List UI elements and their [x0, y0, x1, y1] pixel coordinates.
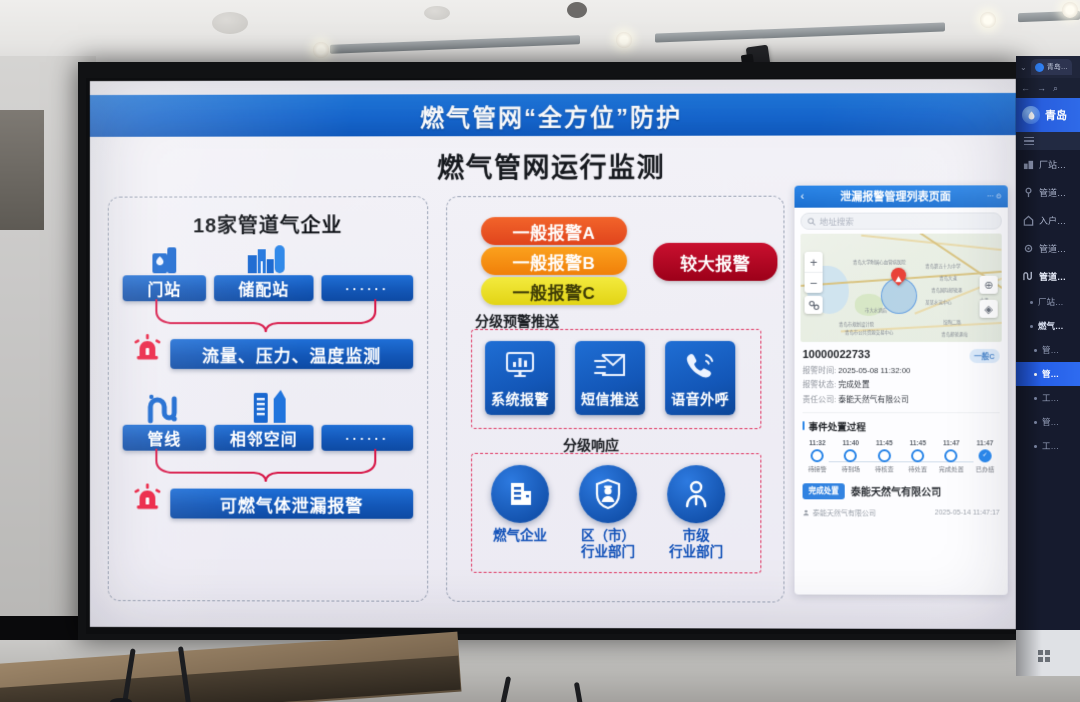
zoom-out-button[interactable]: −: [805, 272, 823, 293]
map-poi: 青岛大道: [939, 276, 957, 282]
chip-storage-station[interactable]: 储配站: [214, 275, 313, 301]
taskbar: [1016, 630, 1080, 676]
field-value: 2025-05-08 11:32:00: [838, 366, 910, 375]
search-icon[interactable]: ⌕: [1053, 83, 1058, 94]
building-icon: [491, 465, 549, 523]
alarm-level-label: 一般报警C: [513, 278, 596, 303]
sidebar-subitem-5[interactable]: 工…: [1016, 386, 1080, 410]
entry-company: 泰能天然气有限公司: [851, 483, 942, 498]
timeline-time: 11:40: [834, 440, 868, 447]
monitoring-result-label: 可燃气体泄漏报警: [220, 491, 363, 516]
response-role-label: 区（市） 行业部门: [569, 528, 647, 559]
field-value: 完成处置: [838, 380, 869, 389]
push-channel-label: 系统报警: [491, 389, 549, 409]
push-channel-sms[interactable]: 短信推送: [575, 341, 645, 415]
alarm-level-b[interactable]: 一般报警B: [481, 247, 627, 275]
field-key: 报警时间:: [803, 366, 837, 375]
sidebar-item-label: 管道…: [1039, 270, 1066, 283]
search-icon: [808, 217, 816, 225]
sidebar-subitem-2[interactable]: 燃气…: [1016, 314, 1080, 338]
timeline-dot: [811, 449, 824, 462]
entry-author: 泰能天然气有限公司: [803, 508, 935, 518]
push-channel-system[interactable]: 系统报警: [485, 341, 555, 415]
alarm-level-label: 一般报警B: [513, 248, 596, 273]
map-poi: 青岛第五十九中学: [925, 264, 960, 270]
brace-connector-2: [148, 449, 377, 483]
sidebar-item-plant[interactable]: 厂站…: [1016, 150, 1080, 178]
monitoring-result-label: 流量、压力、温度监测: [202, 342, 381, 367]
alarm-level-c[interactable]: 一般报警C: [481, 277, 627, 305]
map-poi: 馆陶二路: [943, 320, 961, 326]
presentation-slide: 燃气管网“全方位”防护 燃气管网运行监测 18家管道气企业 门站: [90, 79, 1016, 629]
timeline-dot: [844, 449, 857, 462]
ceiling-downlight: [313, 42, 329, 58]
wall-left-panel: [0, 110, 44, 230]
sidebar-item-label: 管道…: [1039, 186, 1066, 199]
response-role-city[interactable]: 市级 行业部门: [657, 465, 735, 559]
plant-icon: [1023, 159, 1034, 170]
map-poi: 青岛邮轮港站: [941, 332, 968, 338]
sidebar-subitem-label: 厂站…: [1038, 296, 1064, 308]
storage-station-icon: [246, 241, 290, 275]
map-poi: 某某水运中心: [925, 300, 952, 306]
sidebar-item-settings[interactable]: 管道…: [1016, 234, 1080, 262]
browser-nav-bar: ← → ⌕: [1016, 78, 1080, 98]
envelope-icon: [594, 341, 626, 389]
timeline-label: 待接警: [801, 464, 834, 473]
alarm-field-time: 报警时间: 2025-05-08 11:32:00: [803, 365, 1000, 376]
process-timeline: 11:32 待接警 11:40 待到场 11:45 待核查 11:45: [801, 440, 1002, 473]
shield-officer-icon: [579, 465, 637, 523]
middle-panel: 一般报警A 一般报警B 一般报警C 较大报警 分级预警推送: [446, 196, 784, 603]
timeline-step: 11:40 待到场: [834, 440, 868, 473]
bullet-icon: [1034, 445, 1037, 448]
search-input[interactable]: 地址搜索: [801, 212, 1002, 229]
response-role-label: 燃气企业: [481, 528, 559, 544]
timeline-dot: [911, 449, 924, 462]
gear-icon: [1023, 243, 1034, 254]
forward-icon[interactable]: →: [1037, 83, 1046, 93]
chip-label: ······: [345, 430, 389, 445]
home-icon: [1023, 215, 1034, 226]
push-channel-label: 短信推送: [581, 389, 639, 409]
alarm-level-label: 较大报警: [680, 249, 750, 274]
entry-timestamp: 2025-05-14 11:47:17: [935, 510, 1000, 517]
slide-subtitle: 燃气管网运行监测: [90, 145, 1016, 186]
chip-label: 储配站: [238, 276, 289, 300]
chip-gate-station[interactable]: 门站: [123, 275, 206, 301]
sidebar-item-label: 入户…: [1039, 214, 1066, 227]
search-placeholder: 地址搜索: [820, 215, 854, 227]
network-icon: [1023, 271, 1034, 282]
alarm-level-a[interactable]: 一般报警A: [481, 217, 627, 245]
more-icon[interactable]: ··· ⊙: [987, 192, 1002, 200]
siren-icon-2: [133, 483, 163, 513]
monitoring-result-1[interactable]: 流量、压力、温度监测: [170, 339, 413, 369]
response-role-line1: 市级: [657, 528, 735, 544]
map-poi: 市大水酒店: [865, 308, 887, 314]
phone-mockup: ‹ 泄漏报警管理列表页面 ··· ⊙ 地址搜索 青岛大学附属心血管病: [794, 185, 1007, 595]
response-role-line2: 行业部门: [569, 544, 647, 560]
pipeline-icon: [1023, 187, 1034, 198]
sidebar-subitem-label: 工…: [1042, 440, 1059, 452]
sidebar-subitem-label: 管…: [1042, 368, 1059, 380]
zoom-in-button[interactable]: +: [805, 252, 823, 272]
chip-pipeline[interactable]: 管线: [123, 425, 206, 451]
timeline-label: 完成处置: [935, 464, 969, 473]
response-role-line2: 行业部门: [657, 544, 735, 560]
entry-status-badge: 完成处置: [803, 483, 845, 499]
monitor-app-strip: ⌄ 青岛… ← → ⌕ 青岛 厂站…: [1016, 56, 1080, 676]
sidebar-subitem-label: 工…: [1042, 392, 1059, 404]
field-value: 泰能天然气有限公司: [838, 395, 909, 404]
timeline-time: 11:47: [968, 440, 1002, 447]
sidebar-item-label: 管道…: [1039, 242, 1066, 255]
browser-tab-bar: ⌄ 青岛…: [1016, 56, 1080, 78]
timeline-step: 11:45 待处置: [901, 440, 935, 473]
timeline-time: 11:45: [901, 440, 935, 447]
layers-icon[interactable]: [805, 296, 823, 314]
flame-logo-icon: [1022, 106, 1040, 124]
map-poi: 青岛大学附属心血管病医院: [853, 260, 906, 266]
ceiling-vent: [212, 12, 248, 34]
map-view[interactable]: 青岛大学附属心血管病医院 青岛第五十九中学 青岛大道 青岛国际邮轮港 某某水运中…: [801, 234, 1002, 342]
timeline-step: 11:32 待接警: [801, 440, 834, 473]
chip-more-2[interactable]: ······: [321, 425, 413, 451]
sidebar-item-label: 厂站…: [1039, 158, 1066, 171]
left-panel: 18家管道气企业 门站 储配站 ······: [108, 196, 428, 602]
timeline-time: 11:45: [868, 440, 902, 447]
map-zoom-controls[interactable]: + −: [805, 252, 823, 293]
push-channel-label: 语音外呼: [671, 389, 729, 409]
ceiling-downlight: [980, 12, 996, 28]
timeline-label: 待核查: [868, 464, 902, 473]
user-icon: [803, 509, 810, 516]
locate-icon[interactable]: ◈: [980, 300, 998, 318]
gate-station-icon: [148, 245, 182, 275]
back-icon[interactable]: ←: [1021, 83, 1030, 93]
ceiling-downlight: [1062, 2, 1078, 18]
ceiling-speaker: [567, 2, 587, 18]
bullet-icon: [1034, 397, 1037, 400]
chip-label: 相邻空间: [230, 426, 298, 450]
siren-icon-1: [133, 333, 163, 363]
bullet-icon: [1034, 349, 1037, 352]
app-logo-icon: [1035, 63, 1044, 72]
windows-icon[interactable]: [1038, 650, 1050, 662]
browser-tab[interactable]: 青岛…: [1031, 59, 1072, 75]
alarm-level-label: 一般报警A: [513, 218, 596, 243]
sidebar-subitem-7[interactable]: 工…: [1016, 434, 1080, 458]
phone-call-icon: [685, 341, 715, 389]
microphone-base: [110, 698, 132, 702]
bullet-icon: [1030, 301, 1033, 304]
sidebar-item-pipeline[interactable]: 管道…: [1016, 178, 1080, 206]
ceiling-vent: [424, 6, 450, 20]
sidebar-collapse-row[interactable]: [1016, 132, 1080, 150]
chip-label: 门站: [147, 276, 181, 300]
entry-author-name: 泰能天然气有限公司: [813, 508, 876, 518]
browser-tab-title: 青岛…: [1047, 62, 1068, 72]
sidebar-subitem-label: 燃气…: [1038, 320, 1064, 332]
phone-header: ‹ 泄漏报警管理列表页面 ··· ⊙: [794, 185, 1007, 207]
timeline-step: 11:45 待核查: [868, 440, 902, 473]
bullet-icon: [1034, 421, 1037, 424]
field-key: 报警状态:: [803, 380, 837, 389]
chip-more-1[interactable]: ······: [321, 275, 413, 301]
slide-title-bar: 燃气管网“全方位”防护: [90, 93, 1016, 137]
app-brand: 青岛: [1016, 98, 1080, 132]
timeline-time: 11:32: [801, 440, 834, 447]
chip-label: ······: [345, 281, 389, 296]
bullet-icon: [1030, 325, 1033, 328]
chevron-down-icon[interactable]: ⌄: [1020, 63, 1027, 72]
bullet-icon: [1034, 373, 1037, 376]
process-entry-footer: 泰能天然气有限公司 2025-05-14 11:47:17: [803, 508, 1000, 518]
sidebar-subitem-4-selected[interactable]: 管…: [1016, 362, 1080, 386]
timeline-dot: [878, 449, 891, 462]
ceiling-downlight: [616, 32, 632, 48]
timeline-label: 待到场: [834, 464, 868, 473]
alarm-field-status: 报警状态: 完成处置: [803, 379, 1000, 390]
sidebar-subitem-6[interactable]: 管…: [1016, 410, 1080, 434]
push-channel-voice[interactable]: 语音外呼: [665, 341, 735, 415]
brace-connector-1: [148, 299, 377, 333]
adjacent-space-icon: [250, 387, 290, 425]
person-icon: [667, 465, 725, 523]
response-role-line1: 区（市）: [569, 528, 647, 544]
chip-adjacent-space[interactable]: 相邻空间: [214, 425, 313, 451]
conference-room-photo: 燃气管网“全方位”防护 燃气管网运行监测 18家管道气企业 门站: [0, 0, 1080, 702]
chip-label: 管线: [147, 426, 181, 450]
push-section-label: 分级预警推送: [475, 311, 559, 331]
map-poi: 青岛国际邮轮港: [931, 288, 962, 294]
process-entry: 完成处置 泰能天然气有限公司: [803, 483, 1000, 499]
sidebar-item-home[interactable]: 入户…: [1016, 206, 1080, 234]
response-role-enterprise[interactable]: 燃气企业: [481, 465, 559, 544]
globe-icon[interactable]: ⊕: [980, 276, 998, 294]
divider: [803, 412, 1000, 413]
response-role-label: 市级 行业部门: [657, 528, 735, 559]
sidebar-subitem-3[interactable]: 管…: [1016, 338, 1080, 362]
timeline-label: 已办结: [968, 464, 1002, 473]
field-key: 责任公司:: [803, 395, 837, 404]
left-panel-heading: 18家管道气企业: [109, 209, 427, 238]
alarm-detail-card: 一般C 10000022733 报警时间: 2025-05-08 11:32:0…: [803, 349, 1000, 405]
alarm-field-company: 责任公司: 泰能天然气有限公司: [803, 394, 1000, 405]
pipeline-icon: [144, 393, 184, 425]
alarm-level-badge: 一般C: [969, 349, 1000, 363]
monitor-chart-icon: [505, 341, 535, 389]
phone-header-title: 泄漏报警管理列表页面: [804, 188, 987, 204]
timeline-label: 待处置: [901, 464, 935, 473]
sidebar-subitem-1[interactable]: 厂站…: [1016, 290, 1080, 314]
timeline-step: 11:47 ✓ 已办结: [968, 440, 1002, 473]
monitoring-result-2[interactable]: 可燃气体泄漏报警: [170, 489, 413, 519]
alarm-level-major[interactable]: 较大报警: [653, 243, 777, 281]
timeline-dot: [945, 449, 958, 462]
map-poi: 青岛市公共资源交易中心: [845, 330, 894, 336]
sidebar-subitem-label: 管…: [1042, 344, 1059, 356]
slide-title: 燃气管网“全方位”防护: [420, 97, 682, 133]
hamburger-icon[interactable]: [1024, 137, 1034, 145]
app-brand-title: 青岛: [1045, 107, 1067, 123]
timeline-step: 11:47 完成处置: [935, 440, 969, 473]
response-role-district[interactable]: 区（市） 行业部门: [569, 465, 647, 559]
process-section-title: 事件处置过程: [803, 419, 1000, 433]
map-poi: 青岛市规划设计院: [839, 322, 874, 328]
sidebar-subitem-label: 管…: [1042, 416, 1059, 428]
timeline-dot-done: ✓: [978, 449, 991, 462]
sidebar-item-network[interactable]: 管道…: [1016, 262, 1080, 290]
timeline-time: 11:47: [935, 440, 969, 447]
